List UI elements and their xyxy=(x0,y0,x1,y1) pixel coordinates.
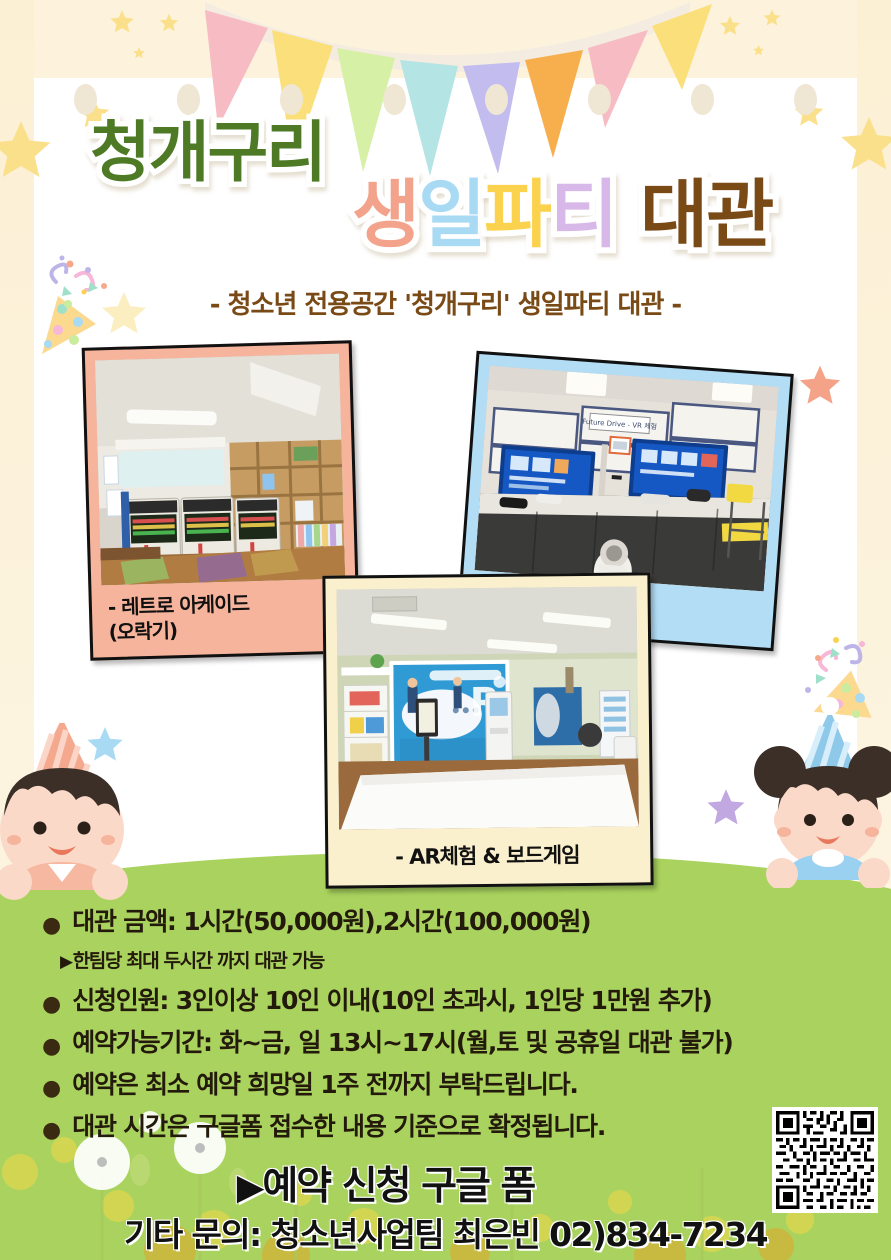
background-star-icon xyxy=(836,112,891,178)
background-star-icon xyxy=(76,96,112,132)
info-item-text: 대관 금액: 1시간(50,000원),2시간(100,000원) xyxy=(72,908,590,936)
background-star-icon xyxy=(108,8,136,36)
bullet-icon: ● xyxy=(42,994,61,1016)
qr-code-icon[interactable] xyxy=(772,1107,878,1213)
info-item: ● 예약가능기간: 화~금, 일 13시~17시(월,토 및 공휴일 대관 불가… xyxy=(42,1029,891,1058)
bullet-icon: ● xyxy=(42,1120,61,1142)
info-item-text: 예약가능기간: 화~금, 일 13시~17시(월,토 및 공휴일 대관 불가) xyxy=(72,1029,732,1057)
photo-image-retro-arcade xyxy=(95,354,345,586)
background-star-icon xyxy=(132,46,146,60)
boy-character-illustration xyxy=(0,700,178,900)
bullet-icon: ● xyxy=(42,1078,61,1100)
photo-card-ar: R xyxy=(322,572,653,888)
bullet-icon: ● xyxy=(42,1036,61,1058)
info-item-text: 예약은 최소 예약 희망일 1주 전까지 부탁드립니다. xyxy=(72,1071,578,1099)
photo-card-retro-arcade: - 레트로 아케이드 (오락기) xyxy=(82,340,361,660)
background-star-icon xyxy=(0,116,56,186)
triangle-icon: ▶ xyxy=(237,1167,263,1208)
info-item: ● 예약은 최소 예약 희망일 1주 전까지 부탁드립니다. xyxy=(42,1071,891,1100)
background-star-icon xyxy=(158,12,180,34)
photo-caption-retro-arcade: - 레트로 아케이드 (오락기) xyxy=(101,579,347,658)
background-star-icon xyxy=(762,8,782,28)
info-item: ● 대관 금액: 1시간(50,000원),2시간(100,000원) xyxy=(42,908,891,937)
info-subnote: ▶한팀당 최대 두시간 까지 대관 가능 xyxy=(60,946,891,973)
triangle-icon: ▶ xyxy=(60,952,72,972)
caption-line: - 레트로 아케이드 (오락기) xyxy=(108,591,250,644)
background-star-icon xyxy=(792,96,826,130)
info-item-text: 신청인원: 3인이상 10인 이내(10인 초과시, 1인당 1만원 추가) xyxy=(72,987,711,1015)
bullet-icon: ● xyxy=(42,915,61,937)
background-star-icon xyxy=(718,14,742,38)
photo-image-vr: Future Drive - VR 체험 xyxy=(475,366,779,592)
photo-caption-ar: - AR체험 & 보드게임 xyxy=(339,826,640,885)
info-list: ● 대관 금액: 1시간(50,000원),2시간(100,000원) ▶한팀당… xyxy=(0,908,891,1155)
girl-character-illustration xyxy=(752,688,891,888)
background-star-icon xyxy=(752,44,765,57)
info-item: ● 대관 시간은 구글폼 접수한 내용 기준으로 확정됩니다. xyxy=(42,1113,891,1142)
footer-contact: 기타 문의: 청소년사업팀 최은빈 02)834-7234 xyxy=(0,1208,891,1256)
info-item-text: 대관 시간은 구글폼 접수한 내용 기준으로 확정됩니다. xyxy=(72,1113,605,1141)
photo-image-ar: R xyxy=(337,586,639,829)
info-item: ● 신청인원: 3인이상 10인 이내(10인 초과시, 1인당 1만원 추가) xyxy=(42,987,891,1016)
info-subnote-text: 한팀당 최대 두시간 까지 대관 가능 xyxy=(73,950,324,972)
poster-subtitle: - 청소년 전용공간 '청개구리' 생일파티 대관 - xyxy=(0,284,891,321)
cta-label: 예약 신청 구글 폼 xyxy=(262,1164,534,1209)
google-form-cta[interactable]: ▶예약 신청 구글 폼 xyxy=(0,1155,891,1211)
poster-root: 청개구리 생일파티 대관 - 청소년 전용공간 '청개구리' 생일파티 대관 - xyxy=(0,0,891,1260)
